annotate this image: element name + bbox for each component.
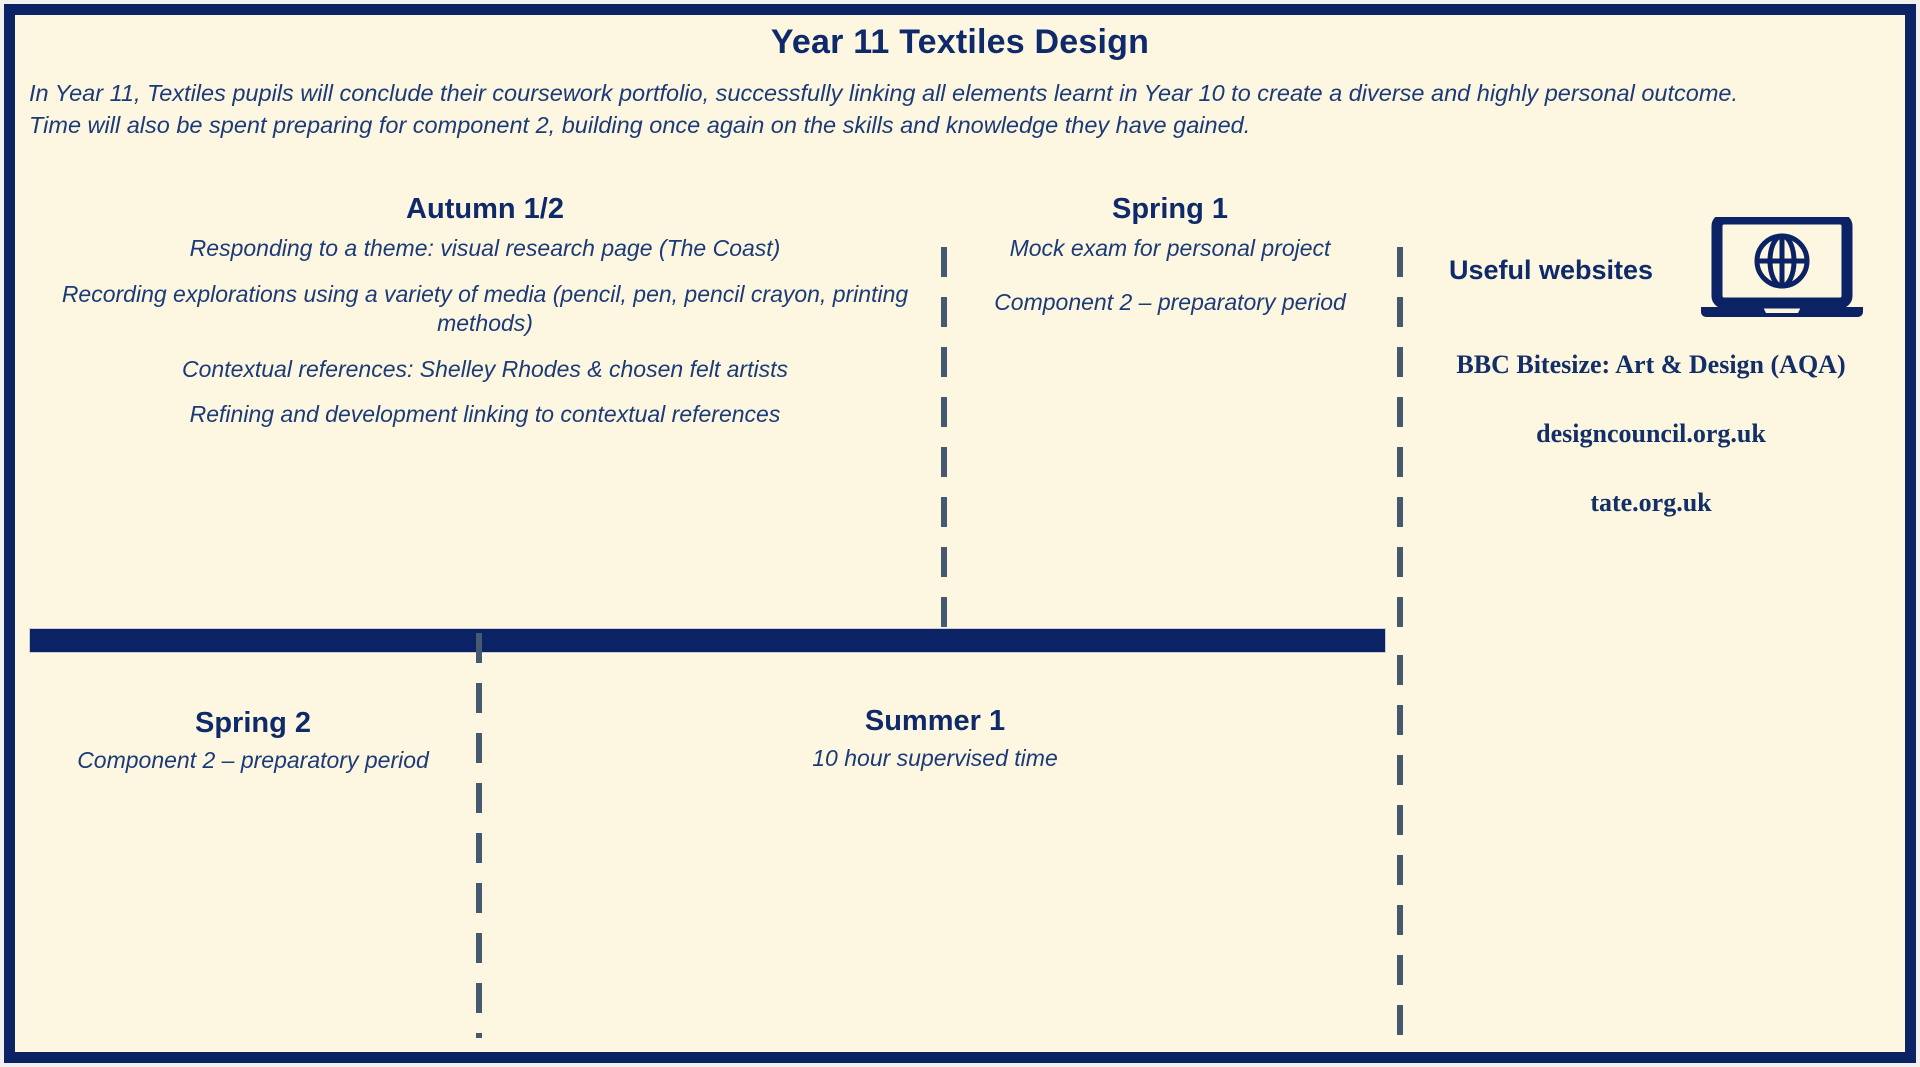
poster-canvas: Year 11 Textiles Design In Year 11, Text… [0, 0, 1920, 1067]
useful-websites-heading: Useful websites [1449, 255, 1653, 286]
spring2-line-1: Component 2 – preparatory period [43, 746, 463, 775]
summer1-line-1: 10 hour supervised time [485, 744, 1385, 773]
intro-line-1: In Year 11, Textiles pupils will conclud… [29, 77, 1889, 109]
divider-spring1-websites [1397, 247, 1403, 632]
poster-frame: Year 11 Textiles Design In Year 11, Text… [4, 4, 1916, 1063]
page-title: Year 11 Textiles Design [15, 23, 1905, 62]
term-block-spring1: Spring 1 Mock exam for personal project … [955, 193, 1385, 317]
term-block-spring2: Spring 2 Component 2 – preparatory perio… [43, 707, 463, 776]
website-link-tate[interactable]: tate.org.uk [1411, 487, 1891, 518]
timeline-bar [29, 628, 1386, 653]
divider-autumn-spring1 [941, 247, 947, 632]
term-heading-autumn: Autumn 1/2 [35, 193, 935, 226]
autumn-line-4: Refining and development linking to cont… [35, 400, 935, 429]
term-heading-spring1: Spring 1 [955, 193, 1385, 226]
autumn-line-1: Responding to a theme: visual research p… [35, 234, 935, 263]
spring1-line-1: Mock exam for personal project [955, 234, 1385, 263]
divider-spring2-summer1 [476, 633, 482, 1038]
laptop-globe-icon [1699, 217, 1865, 317]
website-link-list: BBC Bitesize: Art & Design (AQA) designc… [1411, 349, 1891, 519]
autumn-line-3: Contextual references: Shelley Rhodes & … [35, 355, 935, 384]
spring1-line-2: Component 2 – preparatory period [955, 288, 1385, 317]
term-heading-spring2: Spring 2 [43, 707, 463, 740]
useful-websites-panel: Useful websites BBC Bite [1411, 205, 1891, 625]
website-link-bbc-bitesize[interactable]: BBC Bitesize: Art & Design (AQA) [1411, 349, 1891, 380]
intro-line-2: Time will also be spent preparing for co… [29, 109, 1889, 141]
term-block-summer1: Summer 1 10 hour supervised time [485, 705, 1385, 774]
term-block-autumn: Autumn 1/2 Responding to a theme: visual… [35, 193, 935, 430]
website-link-designcouncil[interactable]: designcouncil.org.uk [1411, 418, 1891, 449]
autumn-line-2: Recording explorations using a variety o… [35, 280, 935, 339]
term-heading-summer1: Summer 1 [485, 705, 1385, 738]
intro-paragraph: In Year 11, Textiles pupils will conclud… [29, 77, 1889, 142]
divider-summer1-websites [1397, 655, 1403, 1038]
